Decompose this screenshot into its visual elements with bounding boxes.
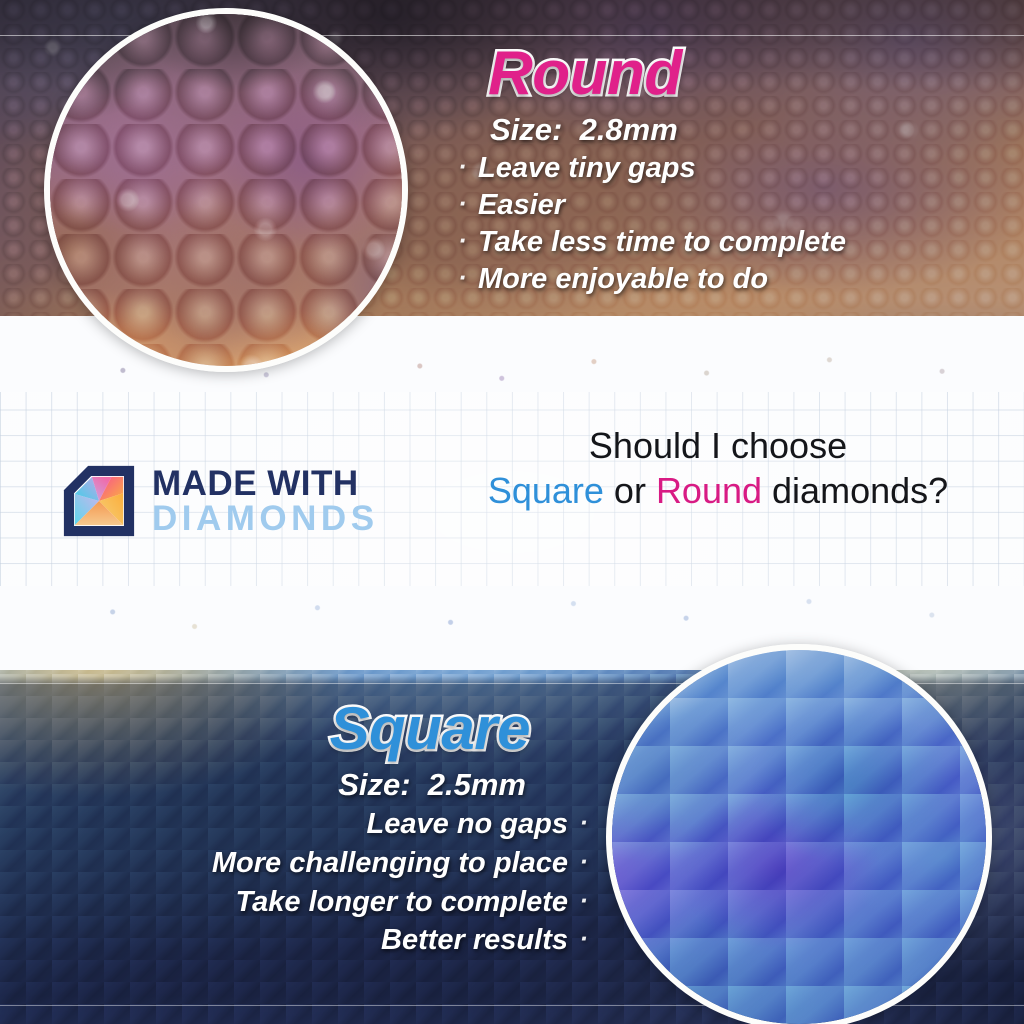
round-size-label: Size: 2.8mm xyxy=(490,112,992,148)
question-line-2: Square or Round diamonds? xyxy=(420,469,1016,514)
question-block: Should I choose Square or Round diamonds… xyxy=(420,424,1016,513)
round-text-block: Round Size: 2.8mm · Leave tiny gaps · Ea… xyxy=(452,44,992,298)
bullet-icon: · xyxy=(458,150,467,183)
bullet-icon: · xyxy=(579,805,588,840)
square-size-label: Size: 2.5mm xyxy=(34,767,526,803)
list-item-label: Take longer to complete xyxy=(236,886,569,918)
bullet-icon: · xyxy=(579,844,588,879)
list-item: Better results · xyxy=(34,921,594,960)
list-item: · Leave tiny gaps xyxy=(452,150,992,187)
brand-wordmark: MADE WITH DIAMONDS xyxy=(152,467,379,536)
list-item-label: Take less time to complete xyxy=(478,226,846,258)
round-zoom-drill-texture xyxy=(50,14,402,366)
bullet-icon: · xyxy=(458,261,467,294)
question-suffix: diamonds? xyxy=(762,470,948,511)
list-item-label: Leave tiny gaps xyxy=(478,152,696,184)
round-benefits-list: · Leave tiny gaps · Easier · Take less t… xyxy=(452,150,992,298)
question-line-1: Should I choose xyxy=(420,424,1016,469)
brand-name-line2: DIAMONDS xyxy=(152,502,379,535)
diamond-logo-mark-icon xyxy=(60,462,138,540)
square-zoom-circle xyxy=(606,644,992,1024)
bullet-icon: · xyxy=(579,883,588,918)
brand-name-line1: MADE WITH xyxy=(152,467,379,500)
bullet-icon: · xyxy=(579,921,588,956)
list-item: · More enjoyable to do xyxy=(452,261,992,298)
list-item-label: Better results xyxy=(381,924,568,956)
square-drawbacks-list: Leave no gaps · More challenging to plac… xyxy=(34,805,594,960)
infographic-poster: Round Size: 2.8mm · Leave tiny gaps · Ea… xyxy=(0,0,1024,1024)
list-item: More challenging to place · xyxy=(34,844,594,883)
list-item: Take longer to complete · xyxy=(34,883,594,922)
question-word-round: Round xyxy=(656,470,762,511)
round-zoom-circle xyxy=(44,8,408,372)
list-item-label: Easier xyxy=(478,189,565,221)
square-torn-spatter xyxy=(0,588,1024,640)
square-title: Square xyxy=(34,700,530,759)
bullet-icon: · xyxy=(458,224,467,257)
question-conjunction: or xyxy=(604,470,656,511)
list-item: Leave no gaps · xyxy=(34,805,594,844)
list-item-label: Leave no gaps xyxy=(367,808,568,840)
brand-logo: MADE WITH DIAMONDS xyxy=(60,462,379,540)
square-text-block: Square Size: 2.5mm Leave no gaps · More … xyxy=(34,700,594,960)
round-title: Round xyxy=(488,44,992,104)
bullet-icon: · xyxy=(458,187,467,220)
list-item-label: More challenging to place xyxy=(212,847,568,879)
square-zoom-drill-texture xyxy=(612,650,986,1024)
list-item: · Take less time to complete xyxy=(452,224,992,261)
list-item: · Easier xyxy=(452,187,992,224)
list-item-label: More enjoyable to do xyxy=(478,263,768,295)
question-word-square: Square xyxy=(488,470,604,511)
